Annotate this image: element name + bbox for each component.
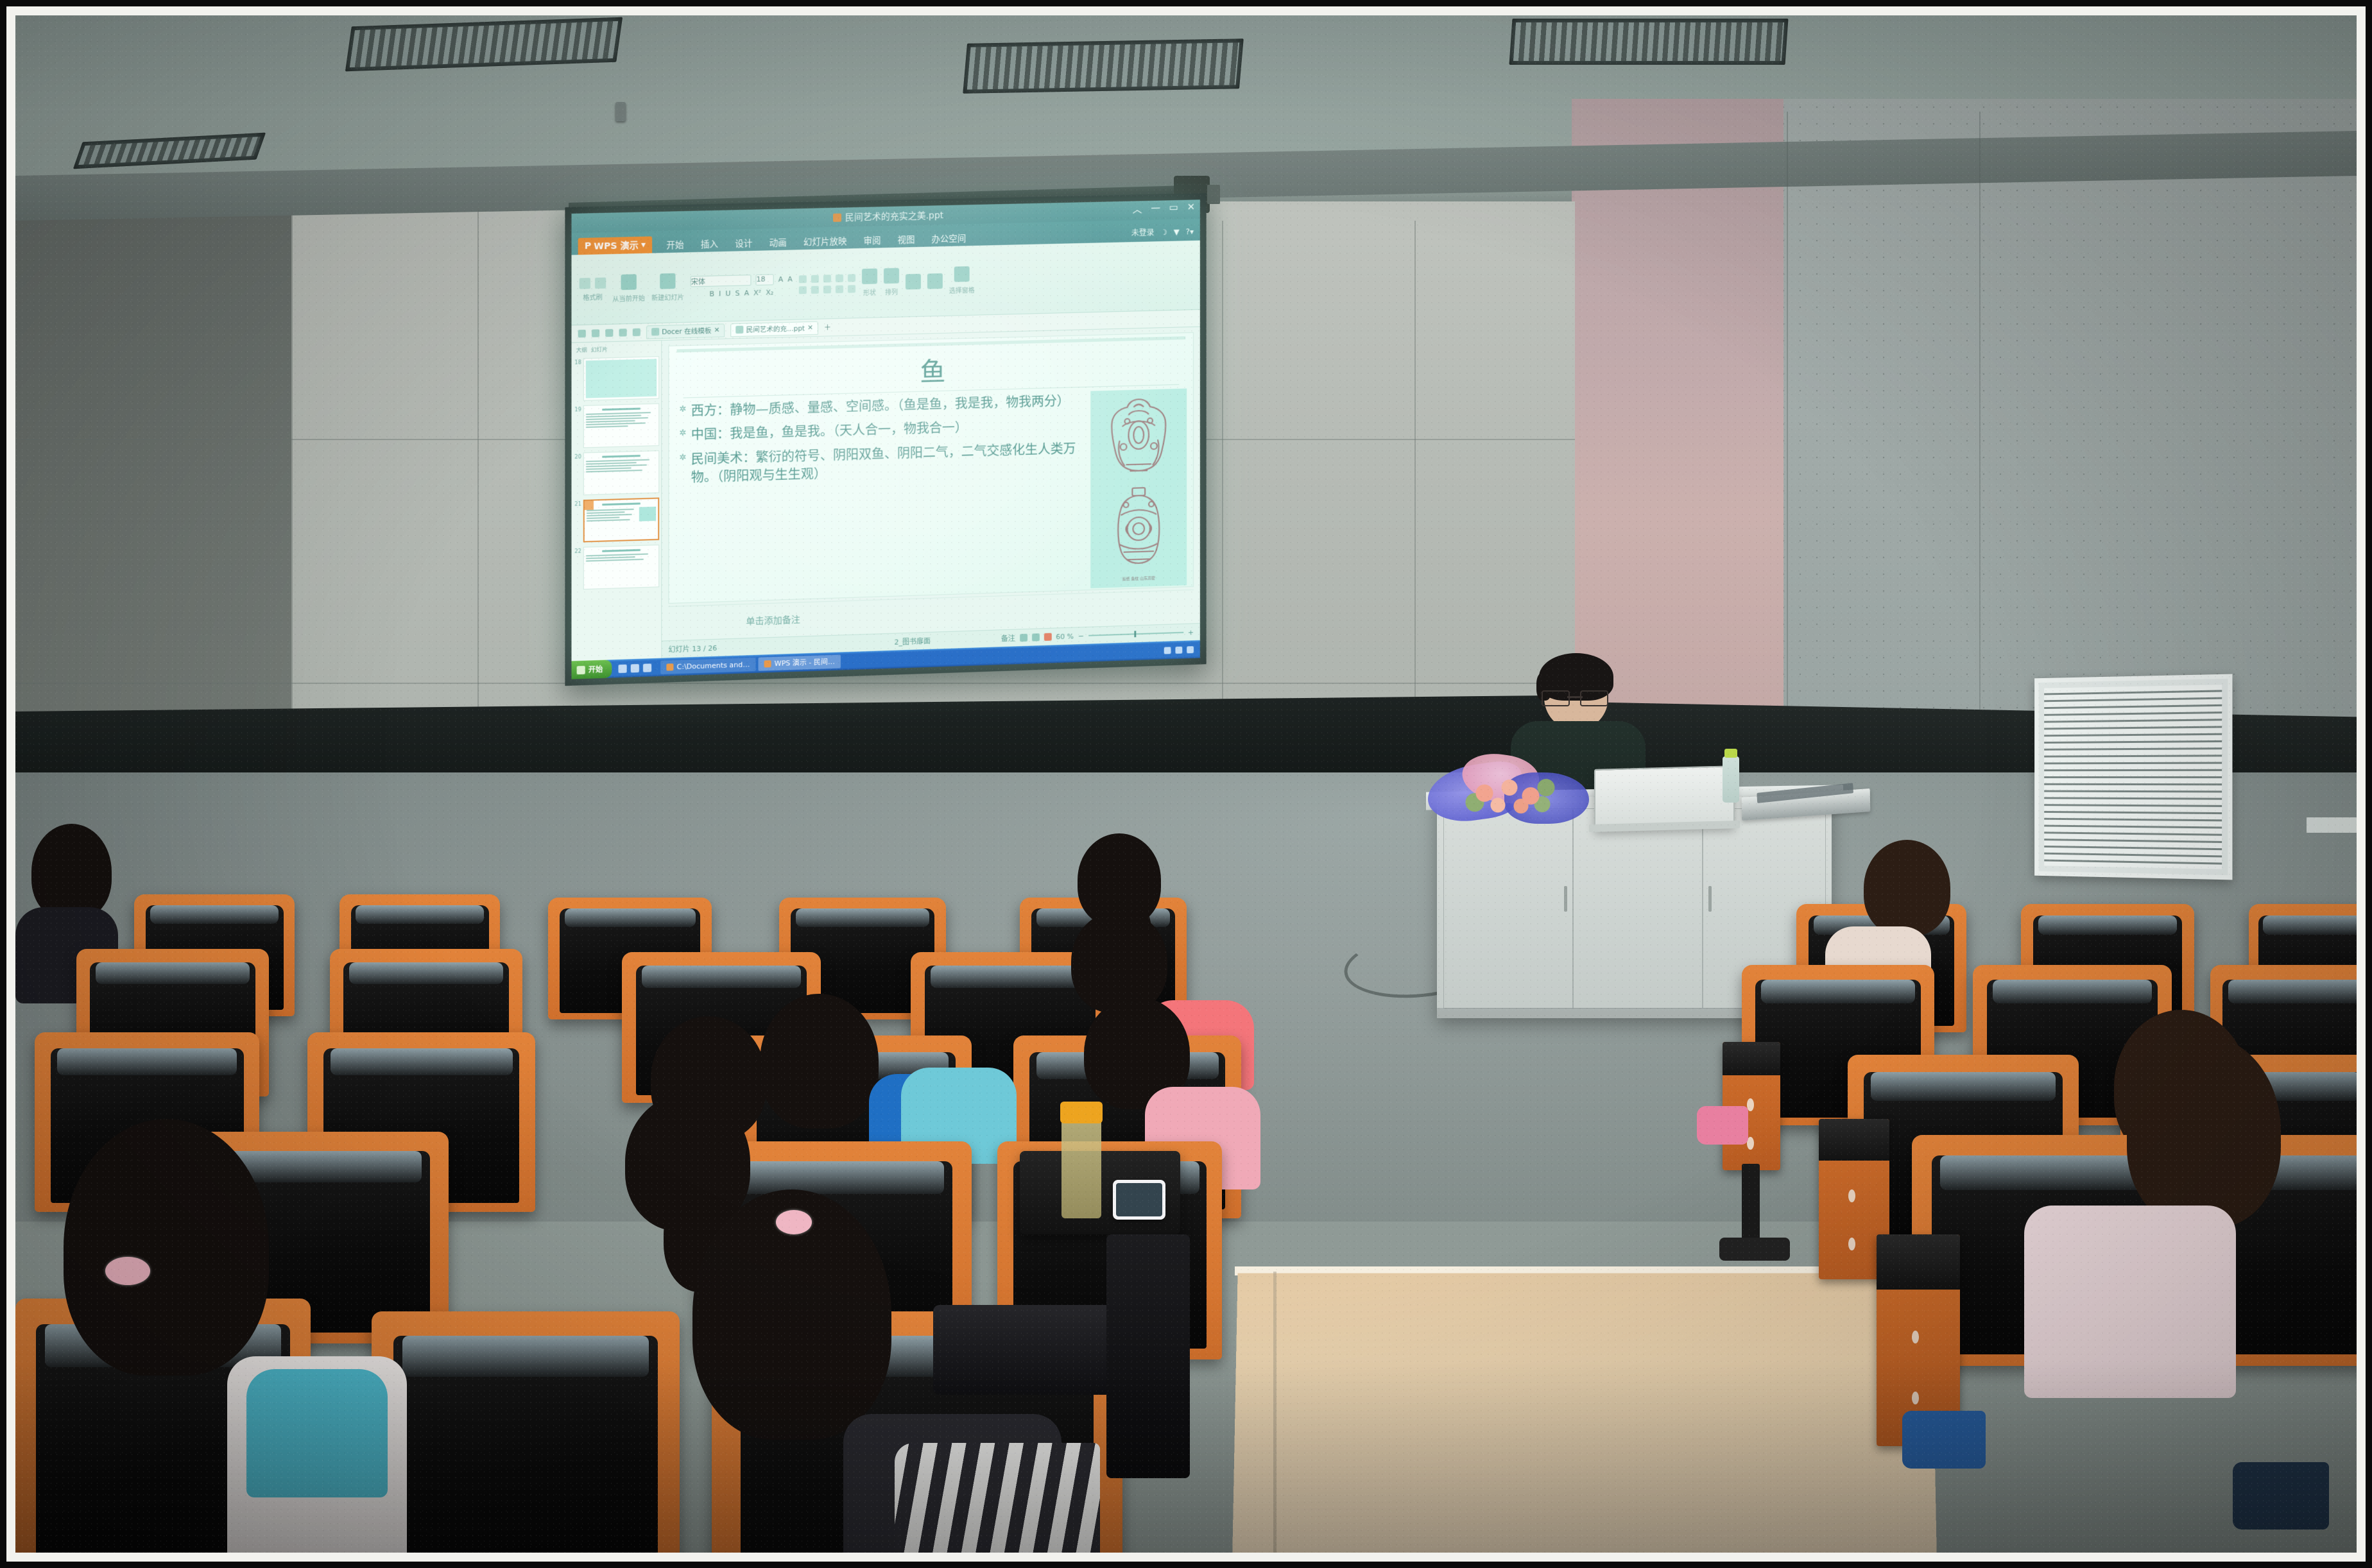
align-right-icon[interactable] <box>823 285 831 293</box>
notes-placeholder: 单击添加备注 <box>746 613 800 627</box>
italic-button[interactable]: I <box>719 289 721 298</box>
phone-screen <box>1116 1183 1162 1216</box>
open-icon[interactable] <box>578 330 586 337</box>
quick-launch[interactable] <box>612 663 658 672</box>
audience-shoulders <box>246 1369 388 1497</box>
quick-style-icon[interactable] <box>927 273 943 289</box>
aisle-floor <box>1232 1273 1937 1553</box>
audience-head <box>1864 840 1950 936</box>
shapes-icon[interactable] <box>862 268 877 284</box>
folder-icon[interactable] <box>643 663 651 672</box>
ribbon-group-shapes: 形状 <box>862 268 877 297</box>
taskbar-item-active[interactable]: WPS 演示 - 民间… <box>759 654 841 670</box>
tab-home[interactable]: 开始 <box>666 237 683 251</box>
photo-frame: 民间艺术的充实之美.ppt ︿ — ▭ ✕ P WPS 演示 <box>0 0 2372 1568</box>
wall-seam <box>291 208 293 715</box>
thumbnail-item-selected[interactable]: 21 <box>574 497 660 542</box>
window-title: 民间艺术的充实之美.ppt <box>833 209 944 224</box>
windows-logo-icon <box>577 665 585 674</box>
tab-view[interactable]: 视图 <box>897 232 915 246</box>
slide-counter: 幻灯片 13 / 26 <box>668 639 823 654</box>
thumbnail-title-bar <box>602 455 641 458</box>
projection-screen: 民间艺术的充实之美.ppt ︿ — ▭ ✕ P WPS 演示 <box>565 193 1206 686</box>
arrange-icon[interactable] <box>884 268 899 284</box>
audience-head <box>760 994 879 1129</box>
tab-slides[interactable]: 幻灯片 <box>591 345 608 354</box>
start-button[interactable]: 开始 <box>571 660 612 679</box>
podium-door[interactable] <box>1573 808 1703 1009</box>
network-icon[interactable] <box>1164 647 1171 654</box>
bullet-item: ✲ 民间美术：繁衍的符号、阴阳双鱼、阴阳二气，二气交感化生人类万物。（阴阳观与生… <box>680 439 1086 487</box>
zoom-slider[interactable] <box>1088 632 1183 636</box>
tab-insert[interactable]: 插入 <box>701 237 718 250</box>
tab-design[interactable]: 设计 <box>735 236 752 250</box>
font-name-input[interactable]: 宋体 <box>691 275 752 287</box>
window-controls[interactable]: ︿ — ▭ ✕ <box>1133 201 1195 216</box>
subscript-button[interactable]: X₂ <box>766 288 773 296</box>
audience-head <box>1071 910 1167 1013</box>
system-tray[interactable] <box>1164 645 1200 654</box>
wall-seam <box>1222 221 1223 715</box>
font-size-input[interactable]: 18 <box>755 274 773 285</box>
bullet-list-icon[interactable] <box>799 275 807 283</box>
collapse-ribbon-icon[interactable]: ︿ <box>1133 202 1142 216</box>
increase-indent-icon[interactable] <box>836 274 843 282</box>
copy-icon[interactable] <box>595 277 606 289</box>
minimize-icon[interactable]: — <box>1151 202 1160 216</box>
tab-review[interactable]: 审阅 <box>863 233 881 246</box>
thumbnail-item[interactable]: 22 <box>574 545 660 590</box>
outline-tabs: 大纲 幻灯片 <box>574 344 660 354</box>
zoom-level: 60 % <box>1056 632 1074 641</box>
arrange-label[interactable]: 排列 <box>885 287 898 296</box>
new-tab-icon[interactable]: ＋ <box>824 322 831 332</box>
projection-surface: 民间艺术的充实之美.ppt ︿ — ▭ ✕ P WPS 演示 <box>571 200 1199 679</box>
volume-icon[interactable] <box>1175 646 1182 653</box>
template-icon <box>651 328 659 336</box>
account-label[interactable]: 未登录 <box>1131 227 1155 239</box>
thumbnail-item[interactable]: 20 <box>574 450 660 495</box>
start-from-current-label[interactable]: 从当前开始 <box>612 293 645 303</box>
slide-artwork-panel[interactable]: 剪纸 鱼纹 山东高密 <box>1090 388 1187 588</box>
columns-icon[interactable] <box>848 285 855 293</box>
format-painter-label[interactable]: 格式刷 <box>583 291 602 302</box>
bold-button[interactable]: B <box>709 289 714 298</box>
seat-foot <box>1719 1238 1790 1261</box>
wps-logo-text: WPS 演示 <box>594 239 639 253</box>
auditorium-seat[interactable] <box>372 1311 680 1553</box>
font-color-button[interactable]: A <box>744 289 750 297</box>
wall-seam <box>1414 221 1416 715</box>
close-icon[interactable]: ✕ <box>807 324 813 332</box>
close-icon[interactable]: ✕ <box>714 327 719 334</box>
doc-tab-templates[interactable]: Docer 在线模板 ✕ <box>646 323 725 339</box>
ceiling-light-fixture <box>963 38 1244 93</box>
side-counter <box>2307 817 2357 833</box>
ribbon-group-newslide: 新建幻灯片 <box>651 273 684 302</box>
wall-seam <box>477 208 479 715</box>
underline-button[interactable]: U <box>725 289 730 297</box>
document-icon <box>735 326 743 334</box>
wps-logo[interactable]: P WPS 演示 ▾ <box>578 236 652 255</box>
redo-icon[interactable] <box>633 328 640 336</box>
bottle-cap <box>1724 749 1737 758</box>
papercut-fish-vessel-icon <box>1101 394 1176 479</box>
media-player-icon[interactable] <box>631 663 639 672</box>
shapes-label[interactable]: 形状 <box>863 287 876 296</box>
sprinkler-head-icon <box>615 102 626 121</box>
thumbnail-item[interactable]: 19 <box>574 404 660 448</box>
chevron-down-icon[interactable]: ▾ <box>641 240 646 250</box>
audience-head <box>64 1119 269 1376</box>
selection-pane-icon[interactable] <box>954 266 970 282</box>
smartphone[interactable] <box>1113 1180 1165 1220</box>
audience-shoulders <box>2024 1206 2236 1398</box>
numbered-list-icon[interactable] <box>811 275 819 282</box>
print-icon[interactable] <box>605 329 613 337</box>
zoom-out-button[interactable]: − <box>1078 631 1084 640</box>
lecture-hall-scene: 民间艺术的充实之美.ppt ︿ — ▭ ✕ P WPS 演示 <box>15 15 2357 1553</box>
wall-seam <box>15 683 1575 684</box>
thumbnail-image <box>586 359 657 398</box>
thumbnail-title-bar <box>602 502 640 506</box>
taskbar-item[interactable]: C:\Documents and… <box>660 657 755 674</box>
clock-icon[interactable] <box>1187 646 1194 653</box>
close-icon[interactable]: ✕ <box>1187 201 1195 214</box>
shoe <box>1902 1411 1986 1469</box>
hair-clip <box>776 1210 812 1234</box>
ribbon-group-paragraph <box>799 274 855 294</box>
new-slide-icon[interactable] <box>660 273 675 289</box>
wps-icon <box>764 660 771 667</box>
slide-thumbnail-pane[interactable]: 大纲 幻灯片 18 19 <box>571 341 662 661</box>
strikethrough-button[interactable]: S <box>735 289 740 297</box>
slide-sorter-icon[interactable] <box>1032 633 1040 641</box>
new-slide-label[interactable]: 新建幻灯片 <box>651 292 684 302</box>
ribbon-group-font: 宋体 18 A A B I U S A X² <box>691 273 793 298</box>
bouquet-flowers <box>1463 774 1560 820</box>
shoe <box>1697 1106 1748 1145</box>
animation-badge-icon <box>585 500 594 510</box>
slide-editing-area[interactable]: 鱼 ✲ 西方：静物—质感、量感、空间感。（鱼是鱼，我是我，物我两分） <box>662 327 1200 658</box>
glasses-icon <box>1542 690 1608 704</box>
ribbon-group-slideshow: 从当前开始 <box>612 274 645 303</box>
current-slide[interactable]: 鱼 ✲ 西方：静物—质感、量感、空间感。（鱼是鱼，我是我，物我两分） <box>668 332 1194 604</box>
justify-icon[interactable] <box>836 285 843 293</box>
seat-leg <box>1742 1164 1760 1247</box>
thumbnail-title-bar <box>602 549 641 552</box>
hair-clip <box>105 1257 150 1285</box>
audience-head <box>2127 1035 2281 1228</box>
water-bottle <box>1723 756 1739 803</box>
font-grow-icon[interactable]: A <box>778 275 784 283</box>
play-slideshow-icon[interactable] <box>1044 633 1051 641</box>
thumbnail-item[interactable]: 18 <box>574 356 660 401</box>
align-left-icon[interactable] <box>799 286 807 294</box>
zoom-in-button[interactable]: + <box>1188 628 1194 636</box>
ribbon-group-arrange: 排列 <box>884 268 899 297</box>
thumbnail-title-bar <box>602 407 641 411</box>
document-icon <box>833 213 841 221</box>
tab-animation[interactable]: 动画 <box>769 235 787 249</box>
save-icon[interactable] <box>592 329 599 337</box>
papercut-fish-vessel-icon <box>1101 484 1176 570</box>
selection-pane-label[interactable]: 选择窗格 <box>949 285 975 295</box>
seat-side-panel <box>1106 1234 1190 1478</box>
normal-view-icon[interactable] <box>1020 634 1027 642</box>
bullet-dot-icon: ✲ <box>680 402 687 420</box>
front-wall-shadowed-panel <box>15 201 291 766</box>
moon-icon[interactable]: ☽ <box>1160 228 1167 237</box>
slide-content: ✲ 西方：静物—质感、量感、空间感。（鱼是鱼，我是我，物我两分） ✲ 中国：我是… <box>669 384 1193 603</box>
notes-toggle-label[interactable]: 备注 <box>1001 633 1015 643</box>
wps-presentation-window: 民间艺术的充实之美.ppt ︿ — ▭ ✕ P WPS 演示 <box>571 200 1199 679</box>
maximize-icon[interactable]: ▭ <box>1169 201 1178 215</box>
wps-logo-mark: P <box>585 241 591 251</box>
wall-seam <box>1787 112 1788 728</box>
bullet-dot-icon: ✲ <box>680 426 687 445</box>
ribbon-group-selectpane: 选择窗格 <box>949 266 975 295</box>
font-shrink-icon[interactable]: A <box>787 275 793 283</box>
undo-icon[interactable] <box>619 328 627 336</box>
browser-icon[interactable] <box>618 664 626 673</box>
chevron-down-icon[interactable]: ▼ <box>1174 227 1180 236</box>
shoe <box>2233 1462 2329 1530</box>
ribbon-group-fill <box>906 274 921 290</box>
audience-head <box>31 824 112 920</box>
bottle-cap <box>1060 1102 1103 1123</box>
ceiling-light-fixture <box>1509 19 1788 65</box>
flower-bouquet <box>1427 753 1594 830</box>
slide-bullet-list[interactable]: ✲ 西方：静物—质感、量感、空间感。（鱼是鱼，我是我，物我两分） ✲ 中国：我是… <box>675 391 1085 602</box>
help-icon[interactable]: ?▾ <box>1186 227 1194 236</box>
thumbnail-preview[interactable] <box>583 356 659 401</box>
thumbnail-preview[interactable] <box>583 404 659 448</box>
photo-inner-border: 民间艺术的充实之美.ppt ︿ — ▭ ✕ P WPS 演示 <box>6 6 2366 1562</box>
tab-office-space[interactable]: 办公空间 <box>931 231 966 244</box>
thumbnail-preview[interactable] <box>583 497 659 542</box>
folder-icon <box>666 663 673 670</box>
tab-outline[interactable]: 大纲 <box>576 346 587 354</box>
return-air-vent-icon <box>2034 674 2232 880</box>
thumbnail-preview[interactable] <box>583 545 659 590</box>
fill-color-icon[interactable] <box>906 274 921 290</box>
superscript-button[interactable]: X² <box>753 288 761 296</box>
artwork-caption: 剪纸 鱼纹 山东高密 <box>1122 575 1155 582</box>
doc-tab-current[interactable]: 民间艺术的充…ppt ✕ <box>730 321 818 336</box>
ribbon-group-clipboard: 格式刷 <box>580 277 606 302</box>
cut-icon[interactable] <box>580 278 590 289</box>
aisle-joint-line <box>1273 1272 1276 1553</box>
podium-door[interactable] <box>1443 808 1573 1009</box>
thumbnail-preview[interactable] <box>583 450 659 495</box>
line-spacing-icon[interactable] <box>848 274 855 282</box>
bullet-dot-icon: ✲ <box>680 450 687 487</box>
workspace: 大纲 幻灯片 18 19 <box>571 327 1199 661</box>
striped-shirt <box>895 1443 1100 1553</box>
align-center-icon[interactable] <box>811 285 819 293</box>
account-area[interactable]: 未登录 ☽ ▼ ?▾ <box>1131 226 1194 238</box>
water-bottle <box>1061 1109 1101 1218</box>
ribbon-group-quickstyle <box>927 273 943 289</box>
tab-slideshow[interactable]: 幻灯片放映 <box>804 234 847 248</box>
start-from-current-icon[interactable] <box>621 274 637 290</box>
wall-seam <box>1979 112 1981 728</box>
decrease-indent-icon[interactable] <box>823 275 831 282</box>
